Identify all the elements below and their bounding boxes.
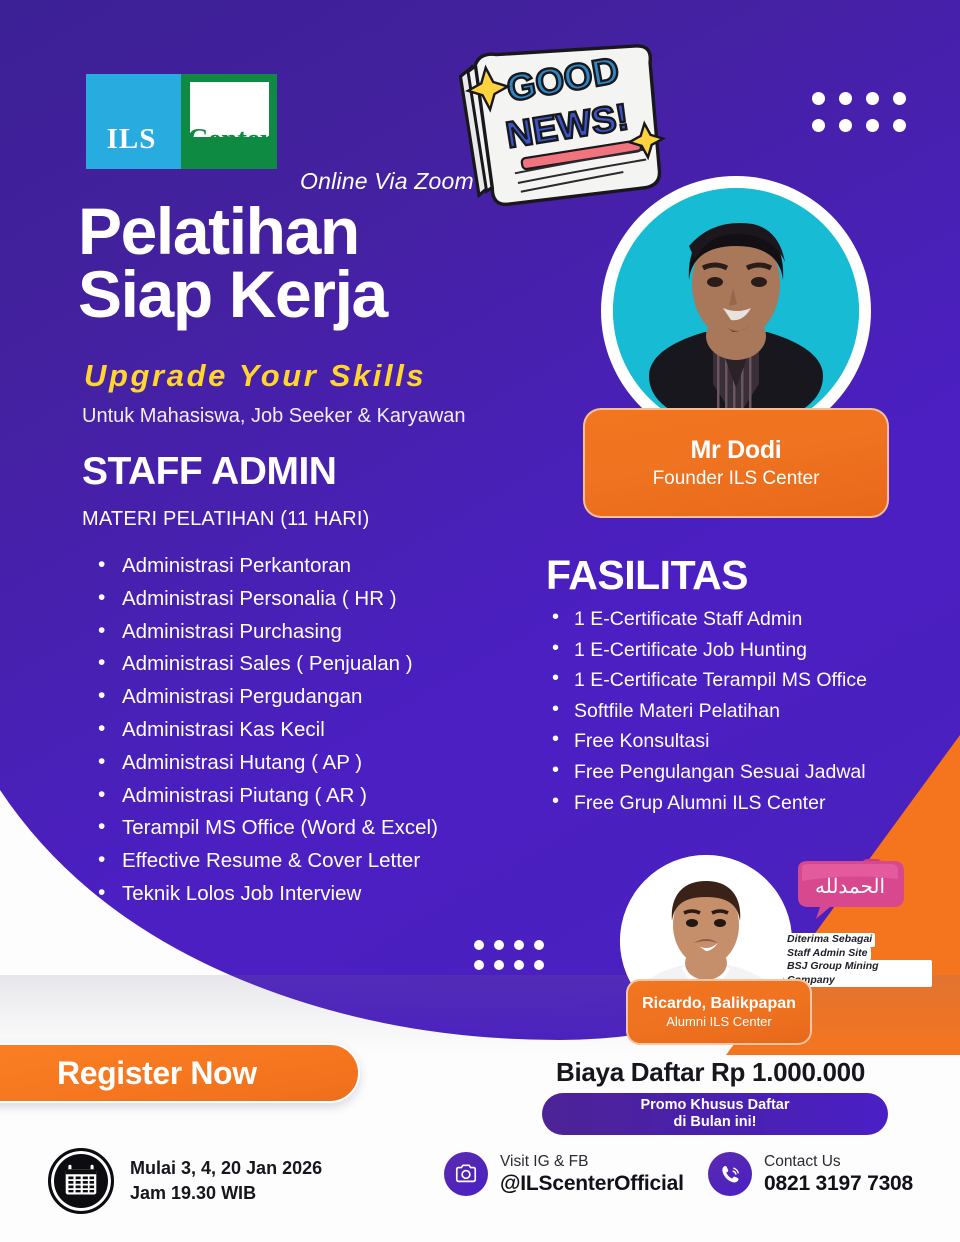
logo-center-text: Center [183, 123, 277, 156]
alhamdulillah-speech-bubble: الحمدلله [790, 859, 910, 921]
decorative-dot-grid-top [812, 92, 906, 132]
fasilitas-list: 1 E-Certificate Staff Admin 1 E-Certific… [550, 604, 950, 818]
testimonial-card: الحمدلله Diterima Sebagai Staff Admin Si… [612, 855, 932, 1045]
title-line-2: Siap Kerja [78, 263, 548, 326]
eyebrow-online-via-zoom: Online Via Zoom [300, 168, 474, 195]
footer-instagram-block[interactable]: Visit IG & FB @ILScenterOfficial [444, 1152, 684, 1196]
footer-instagram-text: Visit IG & FB @ILScenterOfficial [500, 1152, 684, 1196]
date-line-1: Mulai 3, 4, 20 Jan 2026 [130, 1156, 322, 1181]
register-now-label: Register Now [57, 1055, 257, 1092]
list-item: Administrasi Kas Kecil [94, 714, 524, 747]
ils-center-logo: ILS Center [86, 74, 277, 169]
poster-canvas: ILS Center GOOD NEWS! [0, 0, 960, 1242]
list-item: 1 E-Certificate Job Hunting [550, 635, 950, 666]
program-name: STAFF ADMIN [82, 450, 336, 494]
register-now-button[interactable]: Register Now [0, 1043, 360, 1103]
phone-icon [708, 1152, 752, 1196]
speaker-role: Founder ILS Center [653, 468, 820, 490]
ig-handle: @ILScenterOfficial [500, 1171, 684, 1196]
logo-green-block: Center [181, 74, 277, 169]
list-item: Free Konsultasi [550, 726, 950, 757]
materi-list: Administrasi Perkantoran Administrasi Pe… [94, 550, 524, 911]
list-item: Administrasi Sales ( Penjualan ) [94, 648, 524, 681]
footer-contact-text: Contact Us 0821 3197 7308 [764, 1152, 913, 1196]
list-item: Administrasi Purchasing [94, 616, 524, 649]
footer-date-block: Mulai 3, 4, 20 Jan 2026 Jam 19.30 WIB [48, 1148, 322, 1214]
list-item: 1 E-Certificate Staff Admin [550, 604, 950, 635]
testimonial-role: Alumni ILS Center [666, 1014, 772, 1029]
tagline: Upgrade Your Skills [84, 358, 426, 394]
list-item: Administrasi Personalia ( HR ) [94, 583, 524, 616]
list-item: Administrasi Pergudangan [94, 681, 524, 714]
alhamdulillah-text: الحمدلله [815, 876, 885, 898]
footer-contact-block[interactable]: Contact Us 0821 3197 7308 [708, 1152, 913, 1196]
page-title: Pelatihan Siap Kerja [78, 200, 548, 325]
list-item: Free Grup Alumni ILS Center [550, 788, 950, 819]
list-item: Administrasi Hutang ( AP ) [94, 747, 524, 780]
promo-line-2: di Bulan ini! [674, 1114, 757, 1131]
testimonial-name-plate: Ricardo, Balikpapan Alumni ILS Center [626, 979, 812, 1045]
caption-line-1: Diterima Sebagai [784, 933, 875, 947]
speaker-card: Mr Dodi Founder ILS Center [583, 176, 889, 518]
camera-icon [444, 1152, 488, 1196]
list-item: Softfile Materi Pelatihan [550, 696, 950, 727]
logo-ils-text: ILS [86, 123, 177, 156]
audience-text: Untuk Mahasiswa, Job Seeker & Karyawan [82, 405, 466, 428]
logo-cyan-block: ILS [86, 74, 181, 169]
speaker-avatar [613, 188, 859, 434]
date-line-2: Jam 19.30 WIB [130, 1181, 322, 1206]
list-item: Effective Resume & Cover Letter [94, 845, 524, 878]
list-item: Teknik Lolos Job Interview [94, 878, 524, 911]
footer-date-text: Mulai 3, 4, 20 Jan 2026 Jam 19.30 WIB [130, 1156, 322, 1206]
speaker-name: Mr Dodi [691, 436, 782, 465]
caption-line-2: Staff Admin Site [784, 947, 871, 961]
materi-heading: MATERI PELATIHAN (11 HARI) [82, 508, 369, 531]
calendar-icon [48, 1148, 114, 1214]
ig-label: Visit IG & FB [500, 1152, 684, 1171]
fasilitas-heading: FASILITAS [546, 552, 748, 599]
list-item: Administrasi Perkantoran [94, 550, 524, 583]
speaker-name-plate: Mr Dodi Founder ILS Center [583, 408, 889, 518]
promo-badge: Promo Khusus Daftar di Bulan ini! [542, 1093, 888, 1135]
decorative-dot-grid-bottom [474, 940, 544, 970]
list-item: Free Pengulangan Sesuai Jadwal [550, 757, 950, 788]
promo-line-1: Promo Khusus Daftar [640, 1097, 789, 1114]
contact-label: Contact Us [764, 1152, 913, 1171]
price-text: Biaya Daftar Rp 1.000.000 [556, 1057, 865, 1088]
list-item: Administrasi Piutang ( AR ) [94, 780, 524, 813]
testimonial-caption: Diterima Sebagai Staff Admin Site BSJ Gr… [784, 933, 932, 987]
contact-phone: 0821 3197 7308 [764, 1171, 913, 1196]
list-item: Terampil MS Office (Word & Excel) [94, 812, 524, 845]
list-item: 1 E-Certificate Terampil MS Office [550, 665, 950, 696]
testimonial-name: Ricardo, Balikpapan [642, 995, 796, 1013]
